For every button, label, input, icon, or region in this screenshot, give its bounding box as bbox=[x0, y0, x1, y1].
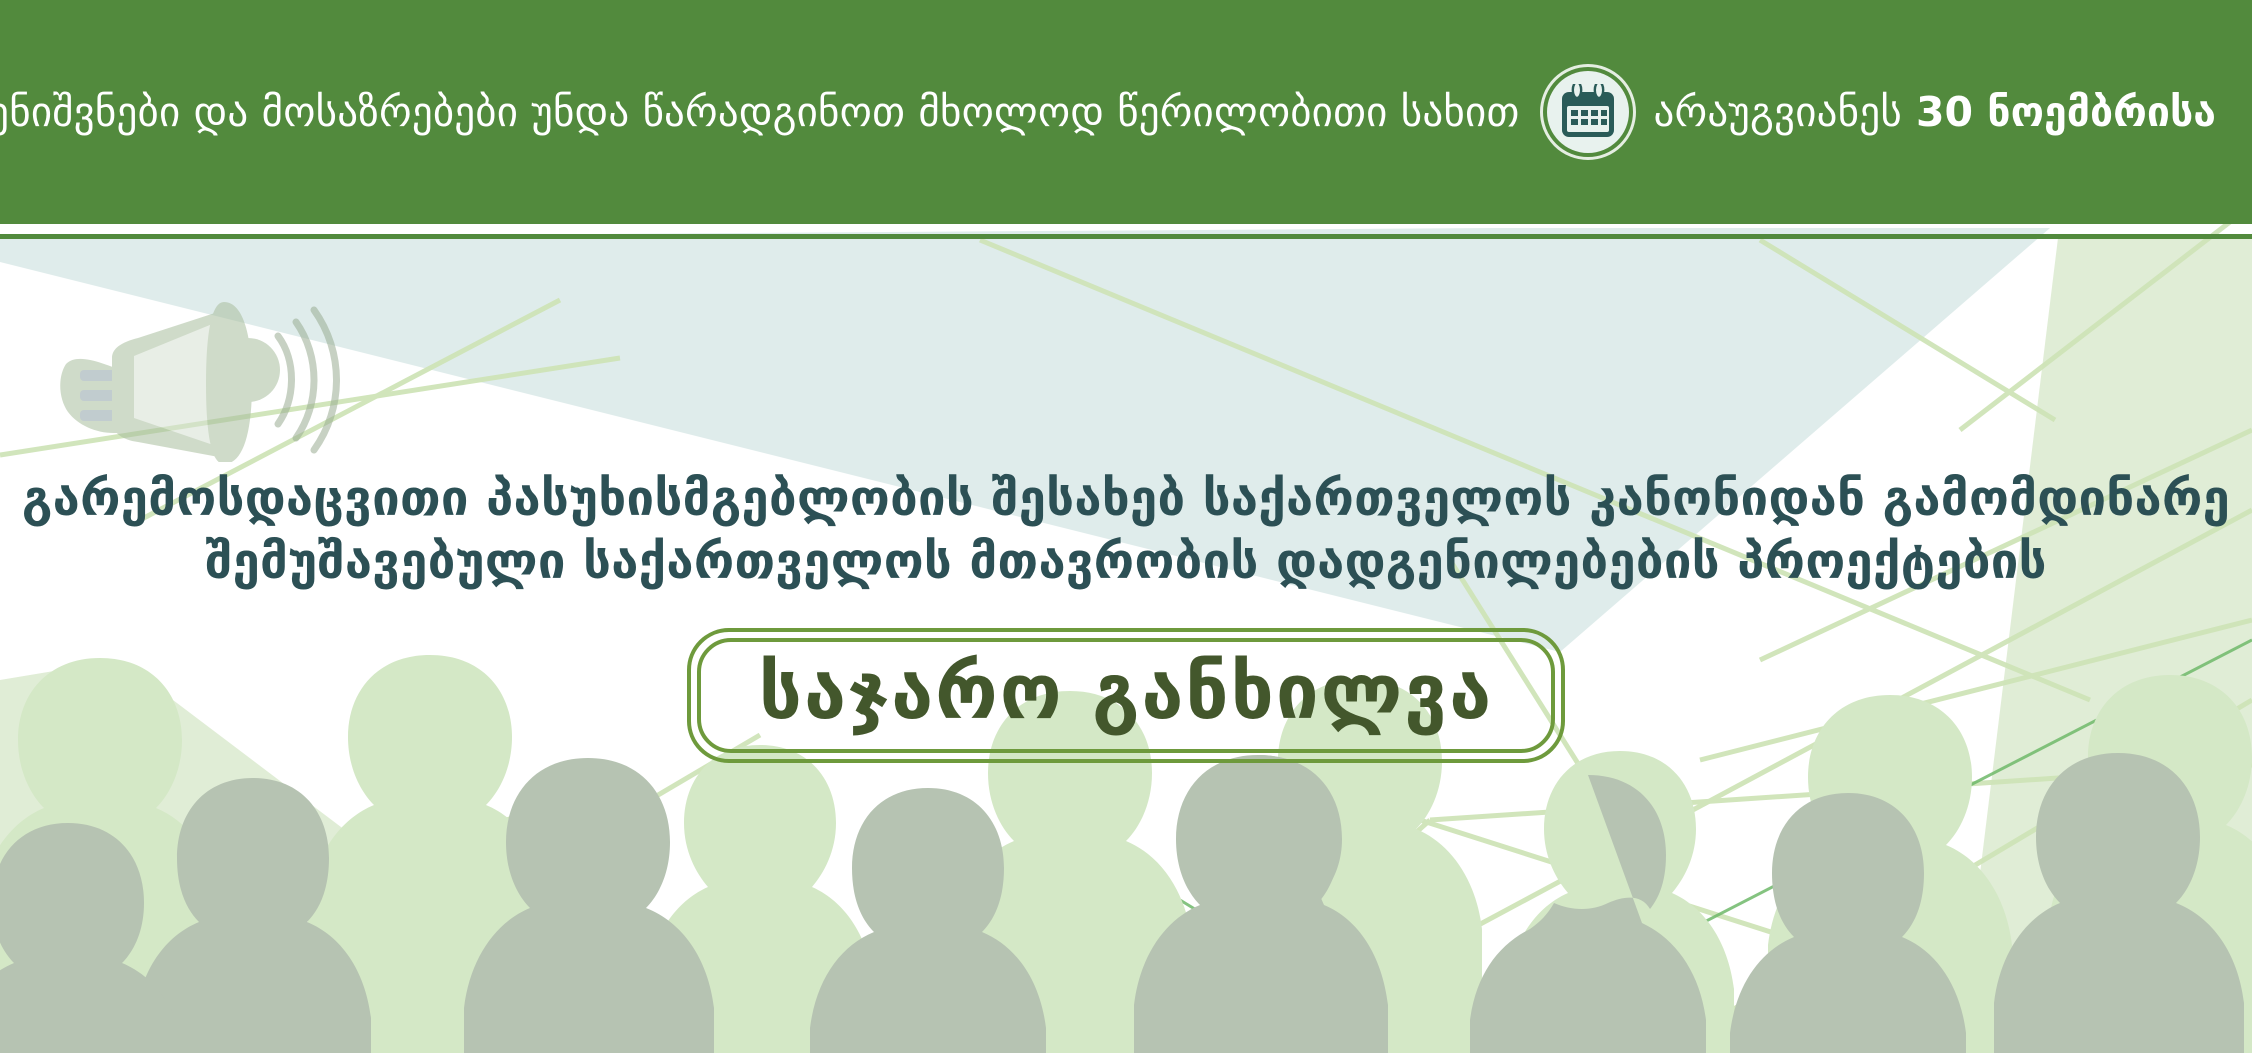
calendar-icon bbox=[1559, 84, 1617, 140]
megaphone-icon bbox=[52, 272, 362, 462]
deco-line-13 bbox=[1170, 820, 1430, 1053]
deco-line-10 bbox=[1420, 820, 2150, 1053]
public-hearing-badge: საჯარო განხილვა bbox=[687, 628, 1565, 764]
header-divider-rule bbox=[0, 234, 2252, 239]
deco-line-4 bbox=[1760, 240, 2055, 420]
deadline-date-text: 30 ნოემბრისა bbox=[1916, 92, 2216, 133]
megaphone-bell-cap bbox=[216, 338, 280, 402]
deco-line-12 bbox=[220, 735, 760, 1053]
submission-notice-text: პროექტების შესახებ შენიშვნები და მოსაზრე… bbox=[0, 92, 1520, 133]
deco-line-15 bbox=[1430, 765, 2252, 820]
megaphone-cone-highlight bbox=[134, 320, 222, 448]
deadline-header-inner: პროექტების შესახებ შენიშვნები და მოსაზრე… bbox=[0, 64, 2216, 160]
megaphone-grip-1 bbox=[80, 370, 118, 381]
public-hearing-badge-inner: საჯარო განხილვა bbox=[697, 638, 1555, 754]
megaphone-bell bbox=[206, 302, 252, 462]
megaphone-cone bbox=[112, 310, 224, 458]
deadline-header-bar: პროექტების შესახებ შენიშვნები და მოსაზრე… bbox=[0, 0, 2252, 224]
announcement-content: გარემოსდაცვითი პასუხისმგებლობის შესახებ … bbox=[0, 470, 2252, 763]
announcement-title-line-1: გარემოსდაცვითი პასუხისმგებლობის შესახებ … bbox=[0, 470, 2252, 529]
crowd-front-row bbox=[0, 753, 2244, 1053]
calendar-badge bbox=[1540, 64, 1636, 160]
deco-line-accent-2 bbox=[1180, 900, 1430, 1053]
megaphone-grip-2 bbox=[80, 390, 118, 401]
deco-line-1 bbox=[0, 358, 620, 455]
public-consultation-banner: პროექტების შესახებ შენიშვნები და მოსაზრე… bbox=[0, 0, 2252, 1053]
public-hearing-label: საჯარო განხილვა bbox=[759, 652, 1493, 732]
deco-line-11 bbox=[0, 800, 560, 1010]
megaphone-handle bbox=[60, 359, 126, 433]
megaphone-grip-3 bbox=[80, 410, 118, 421]
megaphone-sound-waves bbox=[278, 310, 337, 450]
deadline-prefix-text: არაუგვიანეს bbox=[1654, 92, 1902, 133]
announcement-title-line-2: შემუშავებული საქართველოს მთავრობის დადგე… bbox=[0, 533, 2252, 592]
